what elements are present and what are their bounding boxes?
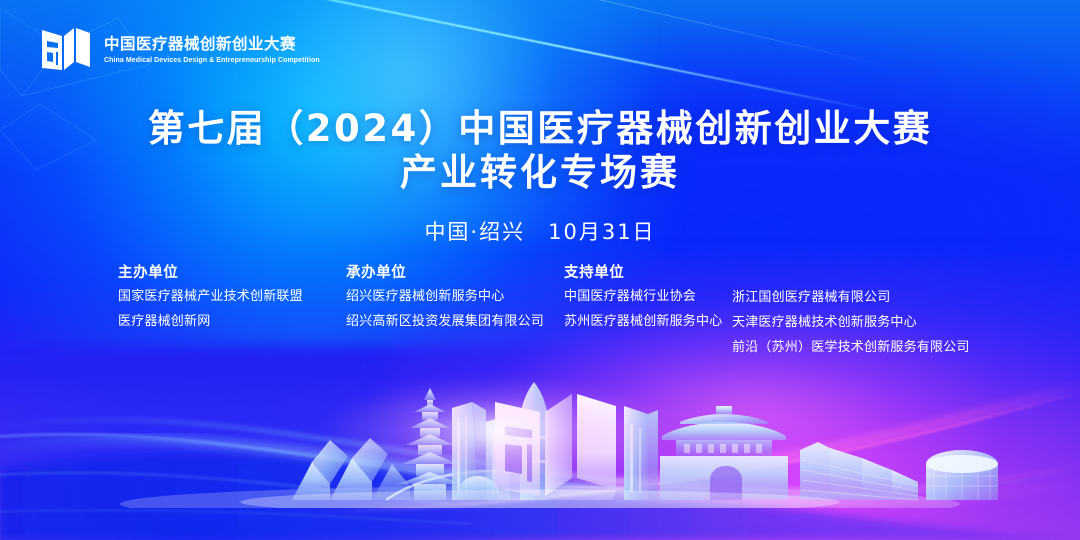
- brand-name-cn: 中国医疗器械创新创业大赛: [104, 37, 326, 53]
- brand-name-en: China Medical Devices Design & Entrepren…: [104, 56, 320, 64]
- organizer-column-host: 主办单位 国家医疗器械产业技术创新联盟 医疗器械创新网: [118, 266, 346, 340]
- organizer-column-supporter: 支持单位 中国医疗器械行业协会 苏州医疗器械创新服务中心: [564, 266, 732, 340]
- organizer-column-undertaker: 承办单位 绍兴医疗器械创新服务中心 绍兴高新区投资发展集团有限公司: [346, 266, 564, 340]
- organizer-item: 中国医疗器械行业协会: [564, 290, 732, 303]
- organizer-column-supporter-extra: 浙江国创医疗器械有限公司 天津医疗器械技术创新服务中心 前沿（苏州）医学技术创新…: [732, 266, 992, 366]
- organizer-item: 绍兴医疗器械创新服务中心: [346, 290, 564, 303]
- organizer-columns: 主办单位 国家医疗器械产业技术创新联盟 医疗器械创新网 承办单位 绍兴医疗器械创…: [118, 266, 992, 366]
- organizer-heading: 承办单位: [346, 266, 564, 282]
- brand-logo: 中国医疗器械创新创业大赛 China Medical Devices Desig…: [40, 24, 326, 74]
- title-line-2: 产业转化专场赛: [0, 151, 1080, 195]
- organizer-item: 医疗器械创新网: [118, 315, 346, 328]
- open-book-door-logo-icon: [40, 24, 92, 74]
- organizer-item: 苏州医疗器械创新服务中心: [564, 315, 732, 328]
- organizer-item: 前沿（苏州）医学技术创新服务有限公司: [732, 341, 992, 354]
- organizer-item: 浙江国创医疗器械有限公司: [732, 291, 992, 304]
- poster-canvas: 中国医疗器械创新创业大赛 China Medical Devices Desig…: [0, 0, 1080, 540]
- organizer-item: 天津医疗器械技术创新服务中心: [732, 316, 992, 329]
- page-title: 第七届（2024）中国医疗器械创新创业大赛 产业转化专场赛: [0, 107, 1080, 194]
- title-line-1: 第七届（2024）中国医疗器械创新创业大赛: [0, 107, 1080, 151]
- event-location-date: 中国·绍兴 10月31日: [0, 216, 1080, 246]
- organizer-heading: 主办单位: [118, 266, 346, 282]
- organizer-heading: 支持单位: [564, 266, 732, 282]
- organizer-item: 国家医疗器械产业技术创新联盟: [118, 290, 346, 303]
- horizon-light-hotspot: [317, 376, 677, 486]
- organizer-item: 绍兴高新区投资发展集团有限公司: [346, 315, 564, 328]
